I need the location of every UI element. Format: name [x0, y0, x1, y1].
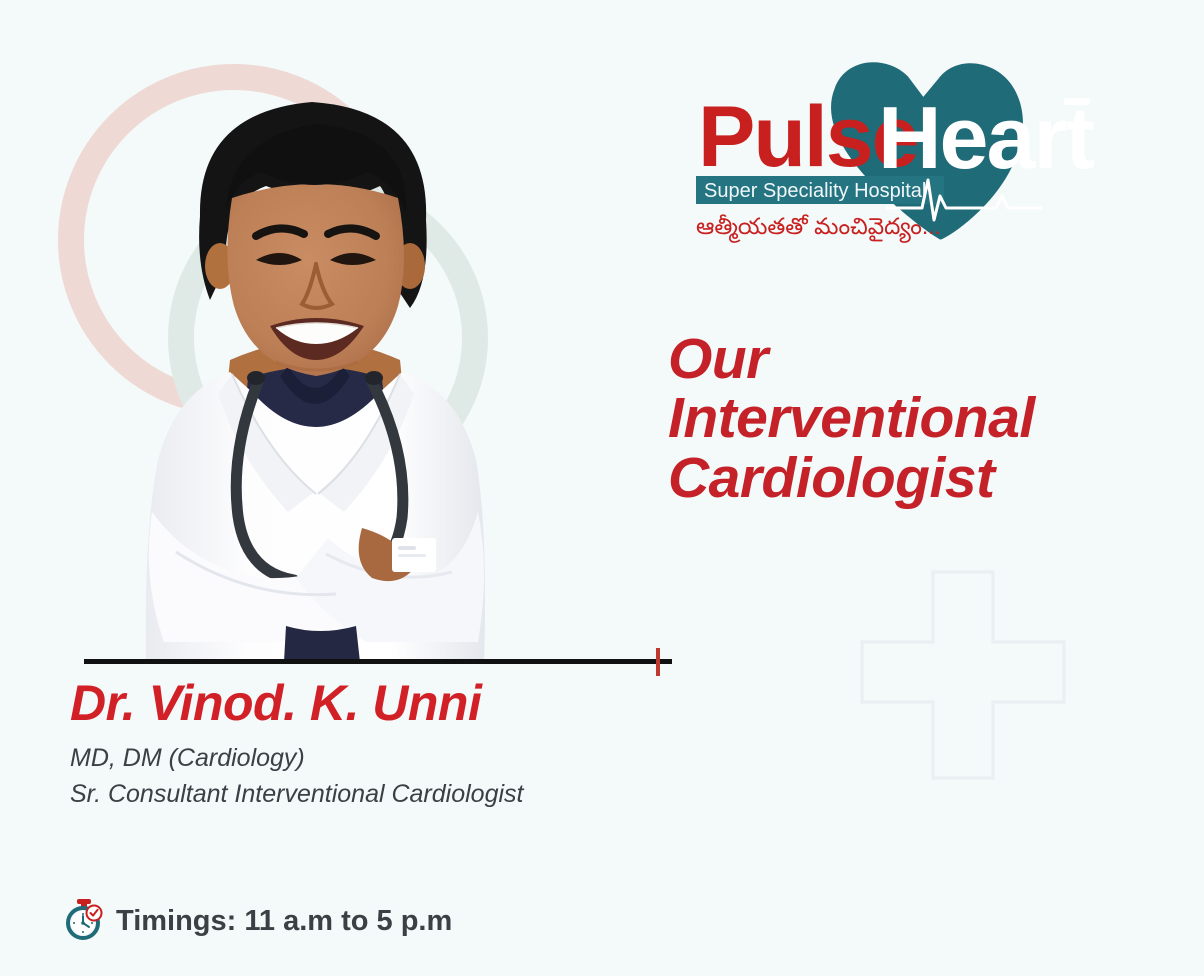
timings-label: Timings: 11 a.m to 5 p.m — [116, 905, 452, 938]
doctor-designation: Sr. Consultant Interventional Cardiologi… — [70, 778, 523, 810]
headline-line-1: Our — [668, 330, 1138, 389]
brand-logo: Pulse Heart Super Speciality Hospital ఆత… — [690, 58, 1110, 253]
brand-tagline-en: Super Speciality Hospital — [704, 180, 926, 202]
doctor-portrait — [80, 60, 550, 662]
svg-text:Heart: Heart — [878, 88, 1095, 187]
doctor-credentials: MD, DM (Cardiology) Sr. Consultant Inter… — [70, 742, 523, 814]
divider-tick-mark — [656, 648, 660, 676]
headline-line-3: Cardiologist — [668, 449, 1138, 508]
headline-line-2: Interventional — [668, 389, 1138, 448]
timings-row: Timings: 11 a.m to 5 p.m — [64, 898, 452, 945]
stopwatch-icon — [64, 898, 104, 945]
medical-cross-icon — [860, 570, 1066, 780]
doctor-name: Dr. Vinod. K. Unni — [70, 674, 481, 732]
divider-rule — [84, 659, 672, 664]
poster-canvas: Pulse Heart Super Speciality Hospital ఆత… — [0, 0, 1204, 976]
page-title: Our Interventional Cardiologist — [668, 330, 1138, 508]
doctor-qualification: MD, DM (Cardiology) — [70, 742, 523, 774]
brand-tagline-te: ఆత్మీయతతో మంచివైద్యం... — [696, 213, 941, 243]
